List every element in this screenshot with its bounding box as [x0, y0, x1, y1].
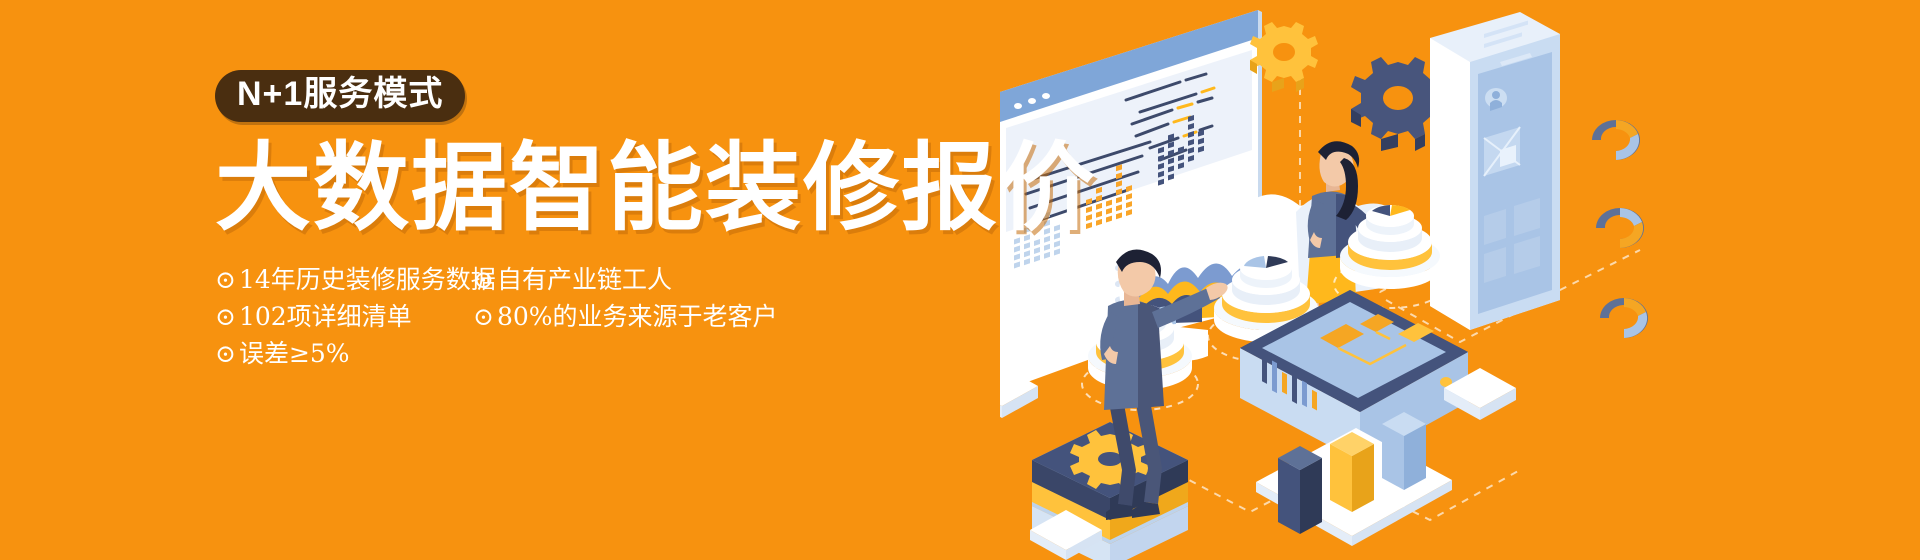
- list-item-label: 自有产业链工人: [497, 265, 672, 294]
- list-item-label: 102项详细清单: [239, 302, 412, 331]
- page-title: 大数据智能装修报价: [215, 140, 1035, 236]
- bullet-dot-icon: ⊙: [473, 264, 494, 295]
- banner-text-block: N+1服务模式 大数据智能装修报价 ⊙14年历史装修服务数据 ⊙102项详细清单…: [215, 70, 1035, 374]
- list-item: ⊙误差≥5%: [215, 338, 350, 369]
- donut-chart-ring-2: [1596, 208, 1644, 248]
- list-item-label: 误差≥5%: [239, 339, 350, 368]
- feature-bullet-list: ⊙14年历史装修服务数据 ⊙102项详细清单 ⊙误差≥5% ⊙自有产业链工人 ⊙…: [215, 264, 835, 374]
- bullet-dot-icon: ⊙: [473, 301, 494, 332]
- hero-illustration: [1000, 0, 1920, 560]
- list-item: ⊙80%的业务来源于老客户: [473, 301, 778, 332]
- bullet-dot-icon: ⊙: [215, 264, 236, 295]
- donut-chart-ring-3: [1600, 298, 1648, 338]
- list-item: ⊙102项详细清单: [215, 301, 412, 332]
- bullet-dot-icon: ⊙: [215, 338, 236, 369]
- bar-chart-platform: [1256, 412, 1452, 546]
- list-item: ⊙14年历史装修服务数据: [215, 264, 496, 295]
- list-item-label: 14年历史装修服务数据: [239, 265, 496, 294]
- donut-chart-ring-1: [1592, 120, 1640, 160]
- list-item-label: 80%的业务来源于老客户: [497, 302, 778, 331]
- bullet-dot-icon: ⊙: [215, 301, 236, 332]
- smartphone: [1430, 0, 1560, 330]
- list-item: ⊙自有产业链工人: [473, 264, 672, 295]
- service-mode-badge: N+1服务模式: [215, 70, 465, 122]
- promo-banner: N+1服务模式 大数据智能装修报价 ⊙14年历史装修服务数据 ⊙102项详细清单…: [0, 0, 1920, 560]
